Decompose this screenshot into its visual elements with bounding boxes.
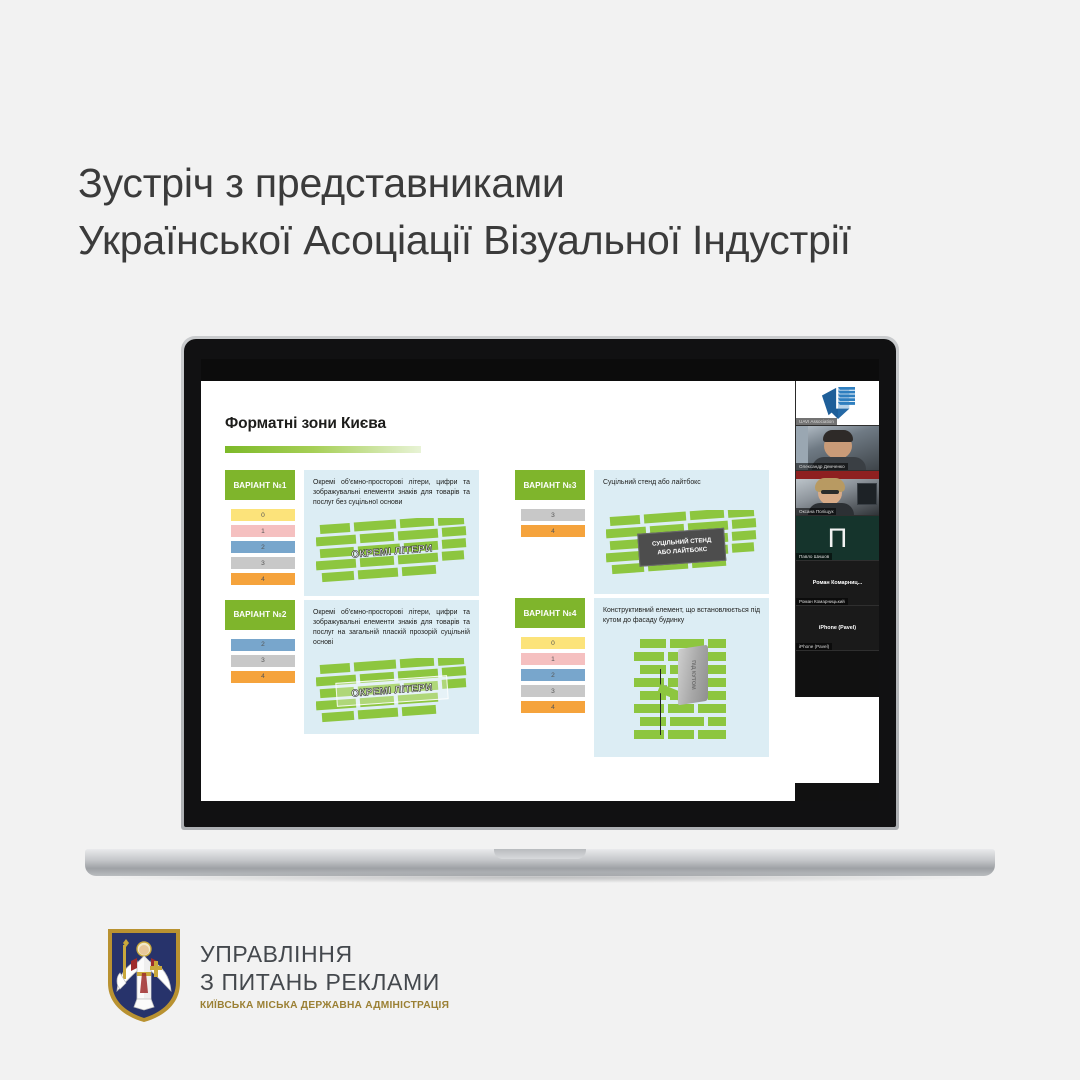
participant-tile-polishchuk[interactable]: Оксана Поліщук (796, 471, 879, 516)
variants-column-left: ВАРІАНТ №1 0 1 2 3 4 (225, 470, 479, 761)
variant-block-2: ВАРІАНТ №2 2 3 4 Окремі об'ємно-просторо… (225, 600, 479, 734)
variant-1-description: Окремі об'ємно-просторові літери, цифри … (313, 478, 470, 509)
participant-tile-shyshov[interactable]: П Павло Шишов (796, 516, 879, 561)
zone-bar-4: 4 (521, 701, 585, 713)
uavi-logo-icon (819, 386, 857, 420)
laptop-mockup: Форматні зони Києва ВАРІАНТ №1 0 (85, 336, 995, 876)
zone-bar-1: 1 (231, 525, 295, 537)
variant-block-3: ВАРІАНТ №3 3 4 Суцільний стенд або лайтб… (515, 470, 769, 594)
variant-2-description: Окремі об'ємно-просторові літери, цифри … (313, 608, 470, 649)
face-hair (823, 430, 853, 442)
variant-1-chip: ВАРІАНТ №1 (225, 470, 295, 500)
variant-3-sign-panel: СУЦІЛЬНИЙ СТЕНД АБО ЛАЙТБОКС (637, 528, 727, 567)
variant-2-card: Окремі об'ємно-просторові літери, цифри … (304, 600, 479, 734)
participants-rail[interactable]: UAVI Association Олександр Демченко (795, 381, 879, 697)
footer-logo: УПРАВЛІННЯ З ПИТАНЬ РЕКЛАМИ КИЇВСЬКА МІС… (104, 925, 449, 1025)
footer-subtitle: КИЇВСЬКА МІСЬКА ДЕРЖАВНА АДМІНІСТРАЦІЯ (200, 1000, 449, 1011)
variant-block-1: ВАРІАНТ №1 0 1 2 3 4 (225, 470, 479, 596)
variant-4-left: ВАРІАНТ №4 0 1 2 3 4 (515, 598, 585, 756)
participant-center-label: Роман Комарниц... (813, 580, 862, 586)
laptop-bezel: Форматні зони Києва ВАРІАНТ №1 0 (184, 339, 896, 827)
footer-title-line-1: УПРАВЛІННЯ (200, 941, 449, 969)
zone-bar-2: 2 (521, 669, 585, 681)
participant-name: Павло Шишов (796, 553, 832, 560)
participant-name: Олександр Демченко (796, 463, 848, 470)
page-title-line-2: Української Асоціації Візуальної Індустр… (78, 212, 1028, 269)
zone-bar-4: 4 (231, 573, 295, 585)
variant-3-card: Суцільний стенд або лайтбокс (594, 470, 769, 594)
variants-column-right: ВАРІАНТ №3 3 4 Суцільний стенд або лайтб… (515, 470, 769, 761)
zone-bar-3: 3 (521, 685, 585, 697)
zone-bar-1: 1 (521, 653, 585, 665)
variant-1-artwork: ОКРЕМІ ЛІТЕРИ (316, 518, 468, 586)
participant-name: Оксана Поліщук (796, 508, 836, 515)
variant-2-chip: ВАРІАНТ №2 (225, 600, 295, 630)
shared-slide: Форматні зони Києва ВАРІАНТ №1 0 (201, 381, 795, 801)
footer-title-line-2: З ПИТАНЬ РЕКЛАМИ (200, 969, 449, 997)
monitor-icon (857, 483, 877, 505)
variant-3-left: ВАРІАНТ №3 3 4 (515, 470, 585, 594)
zone-bar-2: 2 (231, 639, 295, 651)
meeting-topbar (201, 359, 879, 381)
variant-1-card: Окремі об'ємно-просторові літери, цифри … (304, 470, 479, 596)
participant-initial: П (828, 525, 847, 552)
zone-bar-3: 3 (521, 509, 585, 521)
variant-3-description: Суцільний стенд або лайтбокс (603, 478, 760, 488)
variant-4-description: Конструктивний елемент, що встановлюєтьс… (603, 606, 760, 626)
zone-bar-3: 3 (231, 655, 295, 667)
brick-wall: СУЦІЛЬНИЙ СТЕНД АБО ЛАЙТБОКС (606, 510, 758, 584)
variant-4-chip: ВАРІАНТ №4 (515, 598, 585, 628)
perpendicular-sign: ПІД КУТОМ (678, 644, 708, 705)
participant-tile-demchenko[interactable]: Олександр Демченко (796, 426, 879, 471)
variant-3-artwork: СУЦІЛЬНИЙ СТЕНД АБО ЛАЙТБОКС (606, 510, 758, 584)
variant-4-artwork-label: ПІД КУТОМ (690, 660, 696, 690)
zone-bar-2: 2 (231, 541, 295, 553)
footer-text: УПРАВЛІННЯ З ПИТАНЬ РЕКЛАМИ КИЇВСЬКА МІС… (200, 939, 449, 1011)
variant-2-artwork: ОКРЕМІ ЛІТЕРИ (316, 658, 468, 724)
participant-name: Роман Комарницький (796, 598, 848, 605)
laptop-shadow (99, 872, 981, 883)
laptop-screen: Форматні зони Києва ВАРІАНТ №1 0 (201, 359, 879, 801)
variant-4-card: Конструктивний елемент, що встановлюєтьс… (594, 598, 769, 756)
variant-3-chip: ВАРІАНТ №3 (515, 470, 585, 500)
variant-4-artwork: 0,5 м ПІД КУТОМ (634, 635, 730, 747)
variant-1-zone-list: 0 1 2 3 4 (225, 509, 295, 585)
participant-name: UAVI Association (796, 418, 837, 425)
page-title: Зустріч з представниками Української Асо… (78, 155, 1028, 268)
zone-bar-0: 0 (521, 637, 585, 649)
height-dimension-line: 0,5 м (660, 669, 662, 735)
page-title-line-1: Зустріч з представниками (78, 155, 1028, 212)
brick-wall: ОКРЕМІ ЛІТЕРИ (316, 658, 468, 724)
zone-bar-4: 4 (521, 525, 585, 537)
participant-tile-iphone-pavel[interactable]: iPhone (Pavel) iPhone (Pavel) (796, 606, 879, 651)
variant-2-left: ВАРІАНТ №2 2 3 4 (225, 600, 295, 734)
glasses-icon (821, 490, 839, 494)
zone-bar-4: 4 (231, 671, 295, 683)
kyiv-coat-of-arms-icon (104, 925, 184, 1025)
variant-block-4: ВАРІАНТ №4 0 1 2 3 4 (515, 598, 769, 756)
variant-2-zone-list: 2 3 4 (225, 639, 295, 683)
laptop-lid: Форматні зони Києва ВАРІАНТ №1 0 (181, 336, 899, 830)
participant-tile-komarnytskyi[interactable]: Роман Комарниц... Роман Комарницький (796, 561, 879, 606)
slide-title: Форматні зони Києва (225, 415, 795, 433)
brick-wall: 0,5 м ПІД КУТОМ (634, 635, 730, 747)
zone-bar-3: 3 (231, 557, 295, 569)
variant-4-zone-list: 0 1 2 3 4 (515, 637, 585, 713)
variants-grid: ВАРІАНТ №1 0 1 2 3 4 (225, 470, 795, 761)
participant-name: iPhone (Pavel) (796, 643, 832, 650)
brick-wall: ОКРЕМІ ЛІТЕРИ (316, 518, 468, 586)
slide-accent-bar (225, 446, 421, 453)
variant-3-zone-list: 3 4 (515, 509, 585, 537)
participant-center-label: iPhone (Pavel) (819, 625, 856, 631)
zone-bar-0: 0 (231, 509, 295, 521)
variant-1-left: ВАРІАНТ №1 0 1 2 3 4 (225, 470, 295, 596)
participant-tile-uavi[interactable]: UAVI Association (796, 381, 879, 426)
